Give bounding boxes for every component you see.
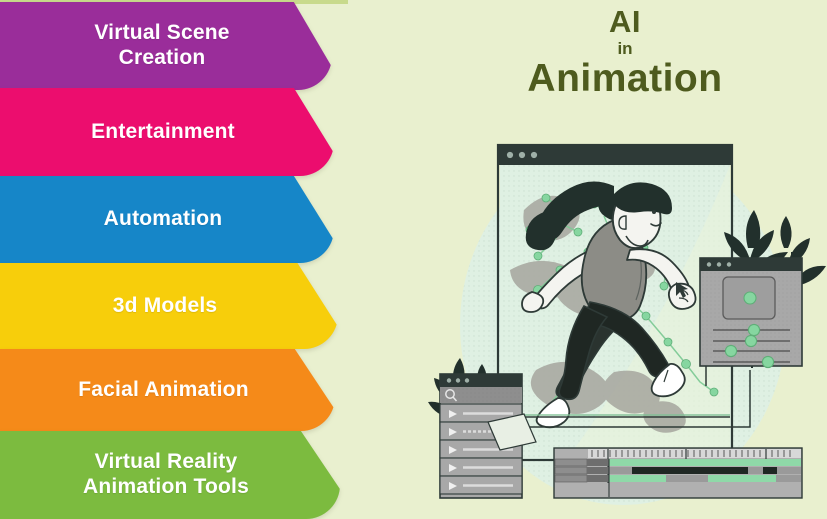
illustration-ai-animation [418, 120, 827, 519]
bar-3d-models[interactable]: 3d Models [0, 263, 338, 349]
slider-thumb [748, 324, 759, 335]
asset-browser-window-dots [447, 378, 469, 382]
title-line-animation: Animation [430, 59, 820, 98]
timeline-clip [632, 467, 748, 474]
list-item [440, 458, 522, 476]
timeline-clip [609, 475, 666, 482]
bar-entertainment[interactable]: Entertainment [0, 88, 334, 176]
bar-label-line-1: Automation [13, 207, 313, 232]
slider-thumb [745, 335, 756, 346]
timeline-track [609, 459, 801, 466]
color-picker-swatch[interactable] [723, 277, 775, 319]
asset-browser-search-row[interactable] [440, 387, 522, 403]
slider-thumb [762, 356, 773, 367]
bar-label-line-2: Creation [12, 46, 312, 71]
timeline-track-headers [555, 459, 609, 482]
bar-label-line-1: Virtual Scene [12, 21, 312, 46]
infographic-canvas: Virtual Scene Creation Entertainment Aut… [0, 0, 827, 519]
bar-virtual-scene-creation[interactable]: Virtual Scene Creation [0, 2, 332, 90]
list-item [440, 476, 522, 494]
bar-label-line-1: 3d Models [15, 294, 315, 319]
title-line-in: in [430, 40, 820, 57]
page-title: AI in Animation [430, 6, 820, 98]
timeline-clip [708, 475, 776, 482]
bar-facial-animation[interactable]: Facial Animation [0, 349, 335, 431]
bar-label-line-1: Entertainment [13, 120, 313, 145]
feature-bar-stack: Virtual Scene Creation Entertainment Aut… [0, 0, 345, 519]
slider-thumb [725, 345, 736, 356]
bar-automation[interactable]: Automation [0, 176, 334, 263]
settings-panel[interactable] [700, 258, 802, 368]
timeline-tracks[interactable] [609, 459, 801, 482]
bar-label-line-2: Animation Tools [16, 475, 316, 500]
bar-virtual-reality-animation-tools[interactable]: Virtual Reality Animation Tools [0, 431, 340, 519]
bar-label-line-1: Facial Animation [14, 378, 314, 403]
timeline-clip [763, 467, 777, 474]
settings-window-dots [707, 262, 731, 266]
title-line-ai: AI [430, 6, 820, 37]
timeline-editor[interactable] [554, 448, 802, 498]
bar-label-line-1: Virtual Reality [16, 450, 316, 475]
window-dots [507, 152, 537, 158]
timeline-ruler[interactable] [588, 449, 801, 458]
